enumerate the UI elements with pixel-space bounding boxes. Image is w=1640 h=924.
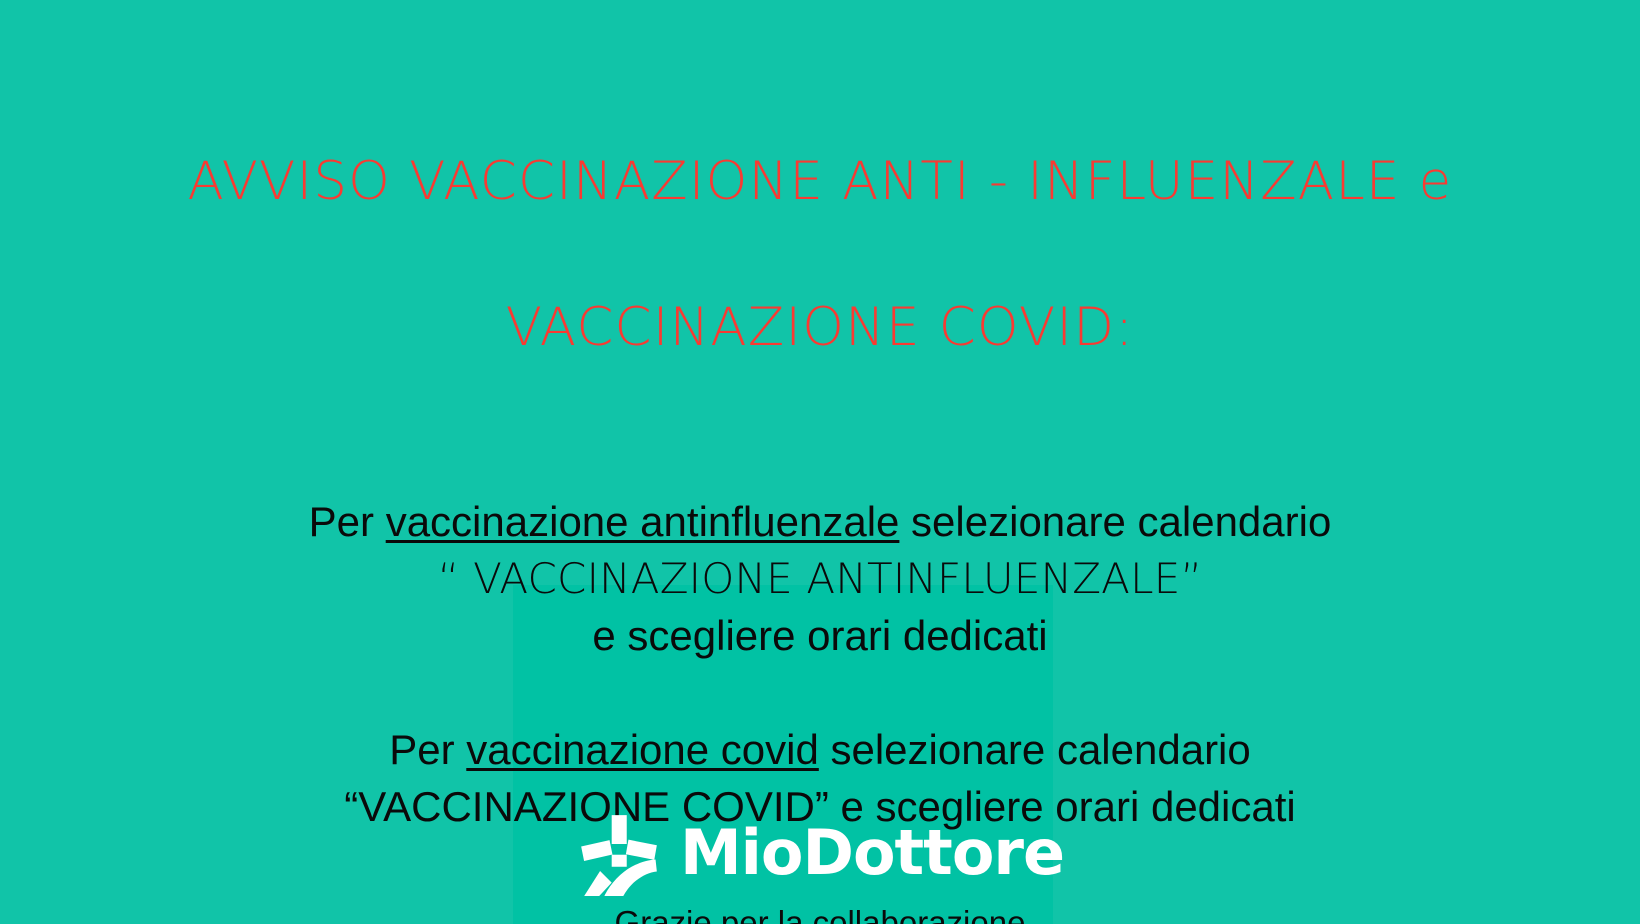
flu-instruction-line-1: Per vaccinazione antinfluenzale selezion… [0, 493, 1640, 550]
miodottore-cross-icon [576, 810, 662, 896]
miodottore-wordmark: MioDottore [680, 822, 1064, 884]
flu-calendar-name: “ VACCINAZIONE ANTINFLUENZALE” [0, 550, 1640, 607]
covid-instruction-line-1: Per vaccinazione covid selezionare calen… [0, 721, 1640, 778]
covid-line1-suffix: selezionare calendario [819, 726, 1251, 773]
covid-line1-underlined: vaccinazione covid [466, 726, 819, 773]
flu-line1-suffix: selezionare calendario [899, 498, 1331, 545]
closing-thanks-text: Grazie per la collaborazione [0, 897, 1640, 924]
flu-instruction-line-3: e scegliere orari dedicati [0, 607, 1640, 664]
closing-block: Grazie per la collaborazione Dott. Marin… [0, 897, 1640, 924]
covid-line1-prefix: Per [389, 726, 466, 773]
flu-line1-prefix: Per [309, 498, 386, 545]
slide-canvas: AVVISO VACCINAZIONE ANTI - INFLUENZALE e… [0, 0, 1640, 924]
flu-line1-underlined: vaccinazione antinfluenzale [386, 498, 900, 545]
page-title: AVVISO VACCINAZIONE ANTI - INFLUENZALE e… [0, 0, 1640, 437]
page-title-line-2: VACCINAZIONE COVID: [0, 291, 1640, 364]
page-title-line-1: AVVISO VACCINAZIONE ANTI - INFLUENZALE e [0, 145, 1640, 218]
miodottore-logo: MioDottore [0, 810, 1640, 896]
slide-content: AVVISO VACCINAZIONE ANTI - INFLUENZALE e… [0, 0, 1640, 924]
flu-instructions-block: Per vaccinazione antinfluenzale selezion… [0, 493, 1640, 664]
